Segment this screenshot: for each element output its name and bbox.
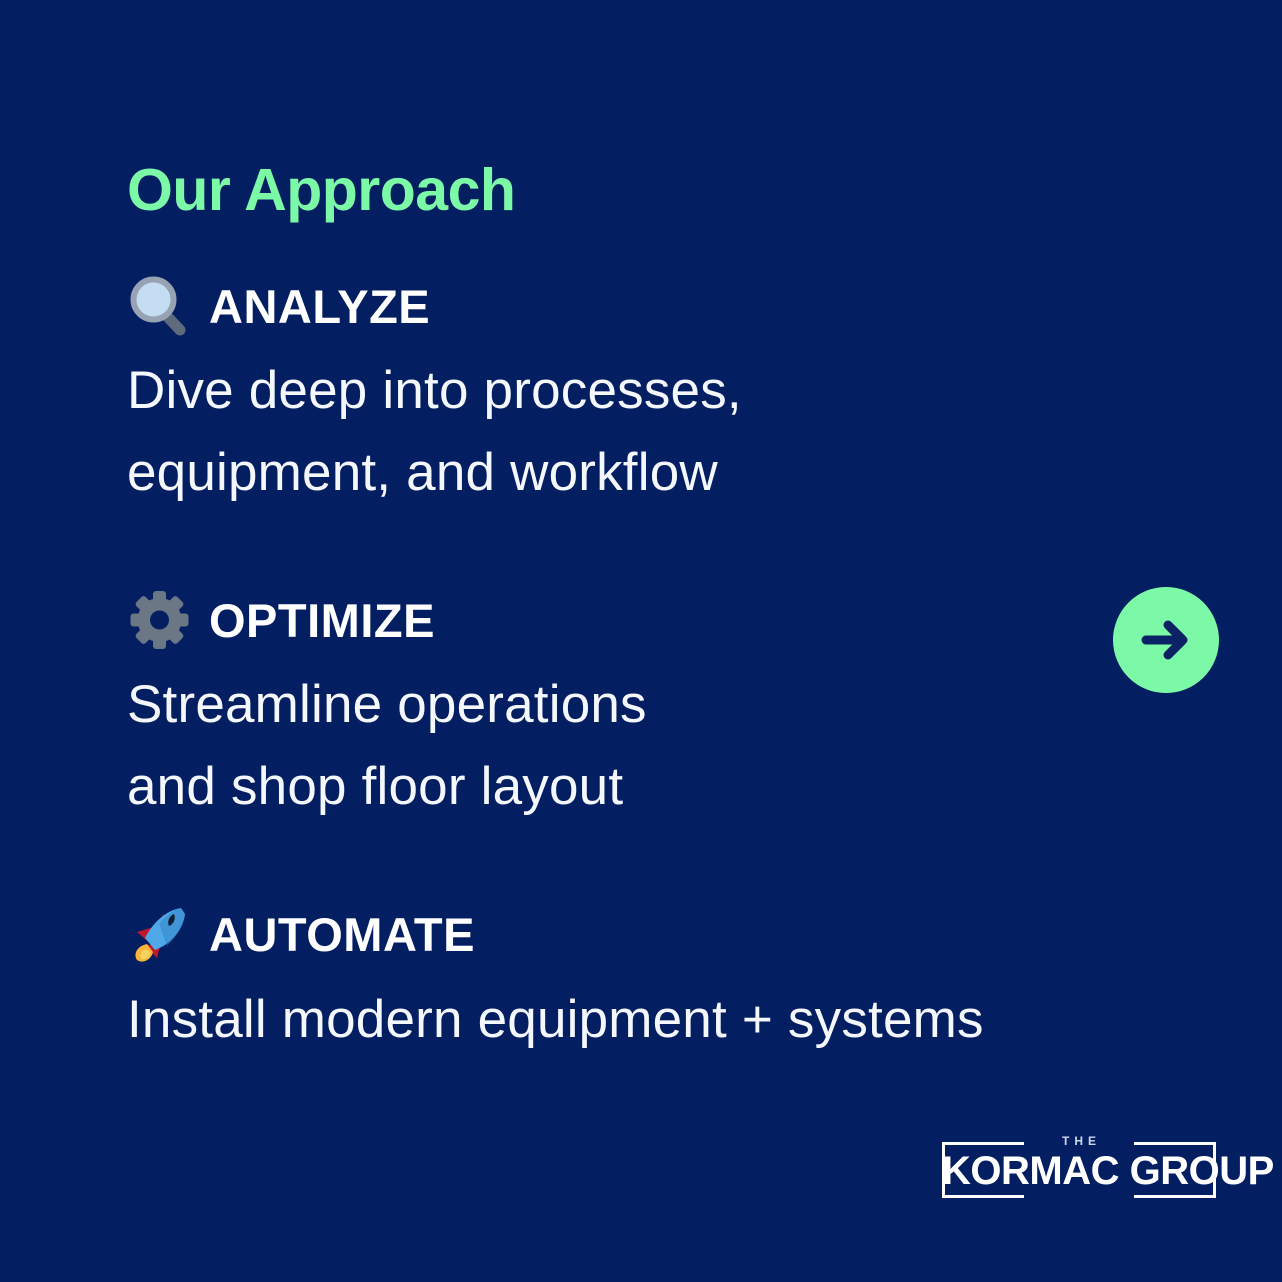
step-optimize: OPTIMIZE Streamline operations and shop … (127, 586, 1177, 828)
logo-frame-right-bottom (1134, 1195, 1216, 1198)
step-automate-description: Install modern equipment + systems (127, 979, 1177, 1061)
step-analyze-description: Dive deep into processes, equipment, and… (127, 350, 1177, 514)
step-optimize-title: OPTIMIZE (209, 597, 435, 644)
step-analyze-header: ANALYZE (127, 272, 1177, 340)
step-analyze-title: ANALYZE (209, 283, 430, 330)
step-optimize-header: OPTIMIZE (127, 586, 1177, 654)
logo-prefix: THE (942, 1134, 1216, 1148)
step-automate: AUTOMATE Install modern equipment + syst… (127, 901, 1177, 1061)
logo-frame-left-bottom (942, 1195, 1024, 1198)
step-automate-title: AUTOMATE (209, 911, 475, 958)
kormac-group-logo: THE KORMAC GROUP (942, 1134, 1216, 1198)
rocket-icon (127, 902, 193, 968)
magnifying-glass-icon (127, 273, 193, 339)
arrow-right-icon (1136, 610, 1196, 670)
next-arrow-button[interactable] (1113, 587, 1219, 693)
approach-steps-list: ANALYZE Dive deep into processes, equipm… (127, 272, 1177, 1061)
step-optimize-description: Streamline operations and shop floor lay… (127, 664, 1177, 828)
approach-card: Our Approach ANALYZE Dive deep into proc… (0, 0, 1282, 1282)
step-automate-header: AUTOMATE (127, 901, 1177, 969)
step-analyze: ANALYZE Dive deep into processes, equipm… (127, 272, 1177, 514)
page-title: Our Approach (127, 160, 515, 222)
logo-name: KORMAC GROUP (942, 1152, 1216, 1190)
gear-icon (127, 587, 193, 653)
